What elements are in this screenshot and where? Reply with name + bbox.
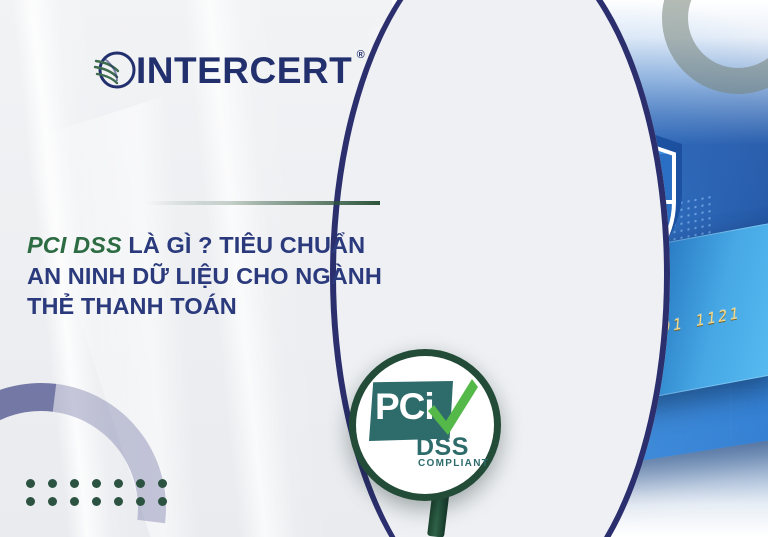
dot xyxy=(136,497,145,506)
dot xyxy=(48,497,57,506)
dot xyxy=(26,479,35,488)
dot xyxy=(158,497,167,506)
page-title: PCI DSS LÀ GÌ ? TIÊU CHUẨN AN NINH DỮ LI… xyxy=(27,230,387,322)
pci-logo-text: PCi xyxy=(375,388,434,425)
dot xyxy=(70,497,79,506)
brand-logo[interactable]: INTERCERT ® xyxy=(92,42,352,98)
registered-trademark-icon: ® xyxy=(357,50,366,61)
globe-swoosh-icon xyxy=(92,47,138,93)
pci-dss-compliant-badge[interactable]: PCi DSS COMPLIANT xyxy=(349,349,501,501)
banner-canvas: 1234 5678 9101 1121 CARDHOLDER NAME xyxy=(0,0,768,537)
headline-accent: PCI DSS xyxy=(27,232,122,258)
dot xyxy=(26,497,35,506)
badge-standard-label: DSS xyxy=(416,435,469,460)
badge-status-label: COMPLIANT xyxy=(418,459,489,469)
dot xyxy=(92,479,101,488)
dot xyxy=(158,479,167,488)
dot xyxy=(92,497,101,506)
green-check-icon xyxy=(426,375,478,437)
brand-logo-label: INTERCERT xyxy=(136,50,352,91)
dot xyxy=(70,479,79,488)
headline-rule xyxy=(146,201,380,205)
decor-dot-grid xyxy=(26,479,180,515)
dot xyxy=(136,479,145,488)
dot xyxy=(114,497,123,506)
brand-logo-text: INTERCERT ® xyxy=(136,52,352,89)
dot xyxy=(114,479,123,488)
dot xyxy=(48,479,57,488)
